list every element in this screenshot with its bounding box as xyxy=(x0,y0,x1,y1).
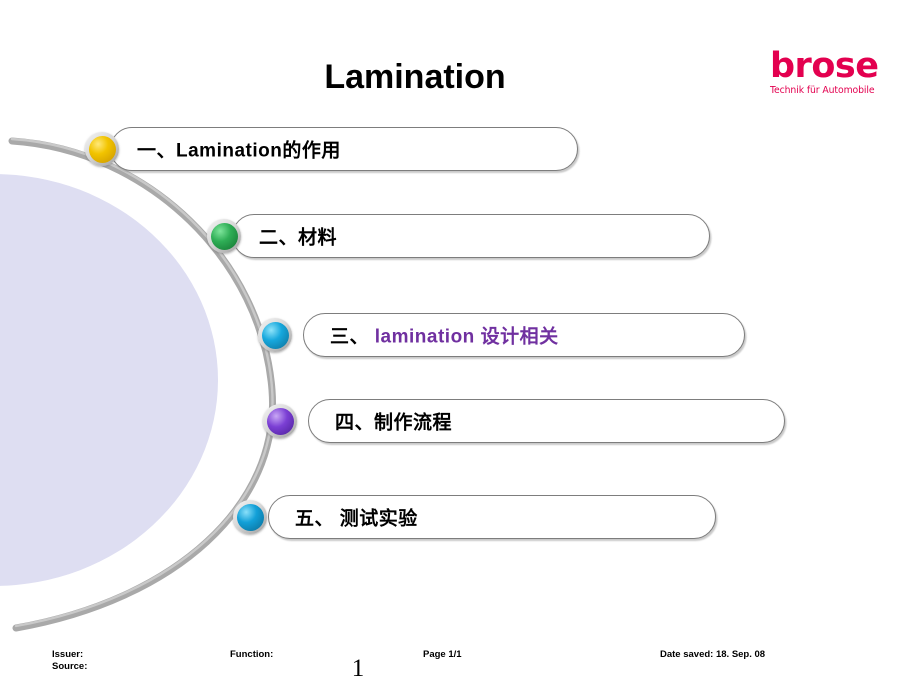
agenda-item-4-row: 四、制作流程 xyxy=(308,399,785,443)
footer-date-saved: Date saved: 18. Sep. 08 xyxy=(660,649,765,660)
agenda-item-4-prefix: 四、制作流程 xyxy=(335,413,452,434)
agenda-item-3-pill[interactable]: 三、 lamination 设计相关 xyxy=(303,313,745,357)
agenda-item-3-label: 三、 lamination 设计相关 xyxy=(330,322,559,349)
grey-sweep-arc-highlight xyxy=(12,139,273,626)
gold-sphere-bullet-icon xyxy=(85,132,119,166)
page-title: Lamination xyxy=(0,58,830,97)
agenda-item-2-label: 二、材料 xyxy=(259,223,337,250)
agenda-item-3-row: 三、 lamination 设计相关 xyxy=(303,313,745,357)
agenda-item-5-row: 五、 测试实验 xyxy=(268,495,716,539)
footer-source: Source: xyxy=(52,661,87,672)
agenda-item-3-accent: lamination xyxy=(375,327,475,348)
blue-sphere-bullet-icon xyxy=(233,500,267,534)
agenda-item-1-label: 一、Lamination的作用 xyxy=(137,136,341,163)
agenda-item-4-label: 四、制作流程 xyxy=(335,408,452,435)
agenda-item-2-row: 二、材料 xyxy=(232,214,710,258)
agenda-item-1-prefix: 一、Lamination的作用 xyxy=(137,141,341,162)
agenda-item-2-prefix: 二、材料 xyxy=(259,228,337,249)
green-sphere-bullet-icon xyxy=(207,219,241,253)
agenda-item-1-pill[interactable]: 一、Lamination的作用 xyxy=(110,127,578,171)
page-number: 1 xyxy=(340,655,376,683)
agenda-item-5-label: 五、 测试实验 xyxy=(295,504,418,531)
agenda-item-3-suffix: 设计相关 xyxy=(475,327,559,348)
agenda-item-4-pill[interactable]: 四、制作流程 xyxy=(308,399,785,443)
agenda-item-3-prefix: 三、 xyxy=(330,327,375,348)
footer-function: Function: xyxy=(230,649,273,660)
lavender-half-disc xyxy=(0,174,218,586)
slide-footer: Issuer: Source: Function: Page 1/1 Date … xyxy=(0,645,920,690)
purple-sphere-bullet-icon xyxy=(263,404,297,438)
cyan-sphere-bullet-icon xyxy=(258,318,292,352)
footer-issuer: Issuer: xyxy=(52,649,83,660)
agenda-item-5-pill[interactable]: 五、 测试实验 xyxy=(268,495,716,539)
footer-page: Page 1/1 xyxy=(423,649,462,660)
agenda-item-5-prefix: 五、 测试实验 xyxy=(295,509,418,530)
agenda-item-2-pill[interactable]: 二、材料 xyxy=(232,214,710,258)
agenda-item-1-row: 一、Lamination的作用 xyxy=(110,127,578,171)
